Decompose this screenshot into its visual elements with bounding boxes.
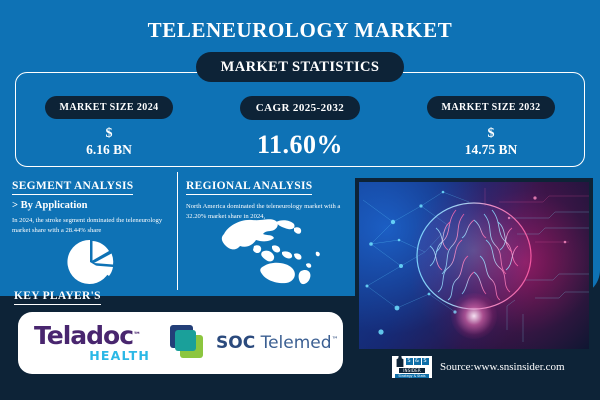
neural-brain-network-image — [359, 182, 589, 349]
sns-insider-logo: S & S INSIDER Strategy & Stats — [392, 356, 432, 378]
soc-telemed-logo-mark — [170, 325, 206, 361]
currency-symbol-2032: $ — [406, 126, 576, 142]
section-divider — [177, 172, 178, 290]
stat-badge-market-size-2032: MARKET SIZE 2032 — [427, 96, 554, 119]
source-row: S & S INSIDER Strategy & Stats Source:ww… — [392, 356, 565, 378]
amount-2032: 14.75 BN — [406, 142, 576, 157]
stat-value-market-size-2032: $ 14.75 BN — [406, 126, 576, 157]
sns-logo-letters: S & S — [406, 358, 429, 365]
currency-symbol-2024: $ — [24, 126, 194, 142]
soc-square-teal — [175, 330, 196, 351]
stat-market-size-2032: MARKET SIZE 2032 $ 14.75 BN — [406, 96, 576, 157]
amount-2024: 6.16 BN — [24, 142, 194, 157]
stat-cagr: CAGR 2025-2032 11.60% — [215, 96, 385, 159]
source-text: Source:www.snsinsider.com — [440, 361, 565, 373]
world-map-icon — [208, 216, 333, 292]
soc-telemed-wordmark: SOC Telemed™ — [216, 333, 339, 353]
stat-badge-cagr: CAGR 2025-2032 — [240, 96, 360, 120]
segment-analysis-heading: SEGMENT ANALYSIS — [12, 180, 133, 195]
sns-letter-s2: S — [422, 358, 429, 365]
regional-analysis-section: REGIONAL ANALYSIS North America dominate… — [186, 176, 351, 222]
stat-market-size-2024: MARKET SIZE 2024 $ 6.16 BN — [24, 96, 194, 157]
sns-tagline: Strategy & Stats — [395, 374, 429, 379]
market-statistics-header: MARKET STATISTICS — [196, 52, 404, 82]
sns-insider-bar: INSIDER — [399, 368, 425, 373]
key-players-label: KEY PLAYER'S — [14, 290, 101, 305]
stat-value-cagr: 11.60% — [215, 130, 385, 159]
regional-analysis-heading: REGIONAL ANALYSIS — [186, 180, 312, 195]
segment-analysis-section: SEGMENT ANALYSIS > By Application In 202… — [12, 176, 172, 236]
pie-chart-icon — [62, 236, 122, 288]
lighthouse-icon — [396, 356, 405, 367]
teladoc-wordmark: Teladoc™ — [34, 323, 154, 348]
infographic-root: TELENEUROLOGY MARKET MARKET STATISTICS M… — [0, 0, 600, 400]
segment-analysis-subheading: > By Application — [12, 200, 172, 211]
teladoc-health-logo: Teladoc™ HEALTH — [34, 323, 154, 363]
sns-letter-s1: S — [406, 358, 413, 365]
segment-analysis-description: In 2024, the stroke segment dominated th… — [12, 216, 172, 236]
page-title: TELENEUROLOGY MARKET — [0, 18, 600, 43]
brain-glow-core — [451, 293, 497, 339]
sns-letter-amp: & — [414, 358, 421, 365]
key-players-card: Teladoc™ HEALTH SOC Telemed™ — [18, 312, 343, 374]
stat-value-market-size-2024: $ 6.16 BN — [24, 126, 194, 157]
stat-badge-market-size-2024: MARKET SIZE 2024 — [45, 96, 172, 119]
sns-logo-top: S & S — [396, 356, 429, 367]
teladoc-health-subtext: HEALTH — [34, 350, 150, 363]
neural-brain-image-frame — [355, 178, 593, 353]
